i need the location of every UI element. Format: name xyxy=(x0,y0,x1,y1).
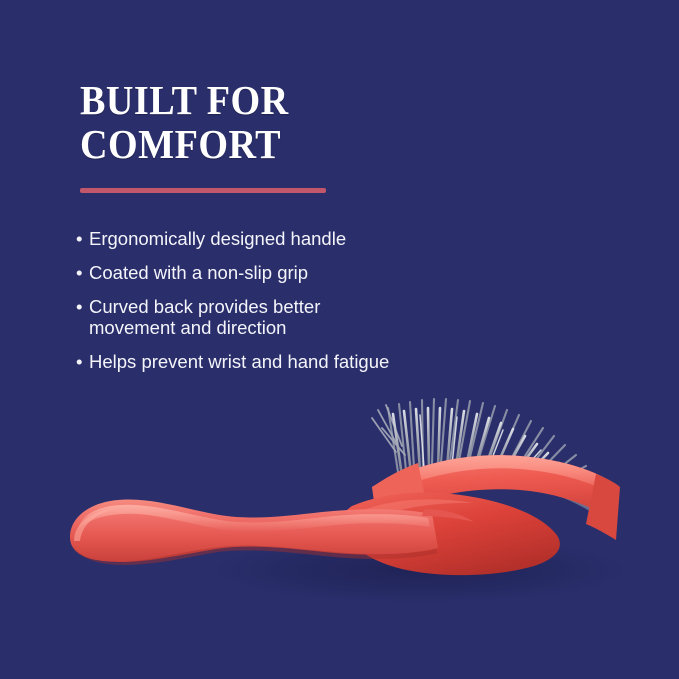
list-item: • Ergonomically designed handle xyxy=(76,228,496,249)
list-item: • Helps prevent wrist and hand fatigue xyxy=(76,351,496,372)
feature-list: • Ergonomically designed handle • Coated… xyxy=(76,228,496,385)
brush-bristles xyxy=(372,399,608,518)
list-item: • Coated with a non-slip grip xyxy=(76,262,496,283)
list-item-label: Helps prevent wrist and hand fatigue xyxy=(89,351,496,372)
bullet-icon: • xyxy=(76,228,89,249)
list-item-label: Coated with a non-slip grip xyxy=(89,262,496,283)
list-item-label: Ergonomically designed handle xyxy=(89,228,496,249)
brush-handle xyxy=(70,499,474,565)
bullet-icon: • xyxy=(76,262,89,283)
brush-pad xyxy=(372,455,620,540)
page-title: BUILT FOR COMFORT xyxy=(80,78,471,166)
brush-body xyxy=(342,493,560,576)
title-divider xyxy=(80,188,326,193)
product-feature-card: BUILT FOR COMFORT • Ergonomically design… xyxy=(0,0,679,679)
bullet-icon: • xyxy=(76,296,89,317)
list-item-label: Curved back provides better movement and… xyxy=(89,296,496,338)
brush-shadow xyxy=(205,536,635,604)
bullet-icon: • xyxy=(76,351,89,372)
list-item: • Curved back provides better movement a… xyxy=(76,296,496,338)
